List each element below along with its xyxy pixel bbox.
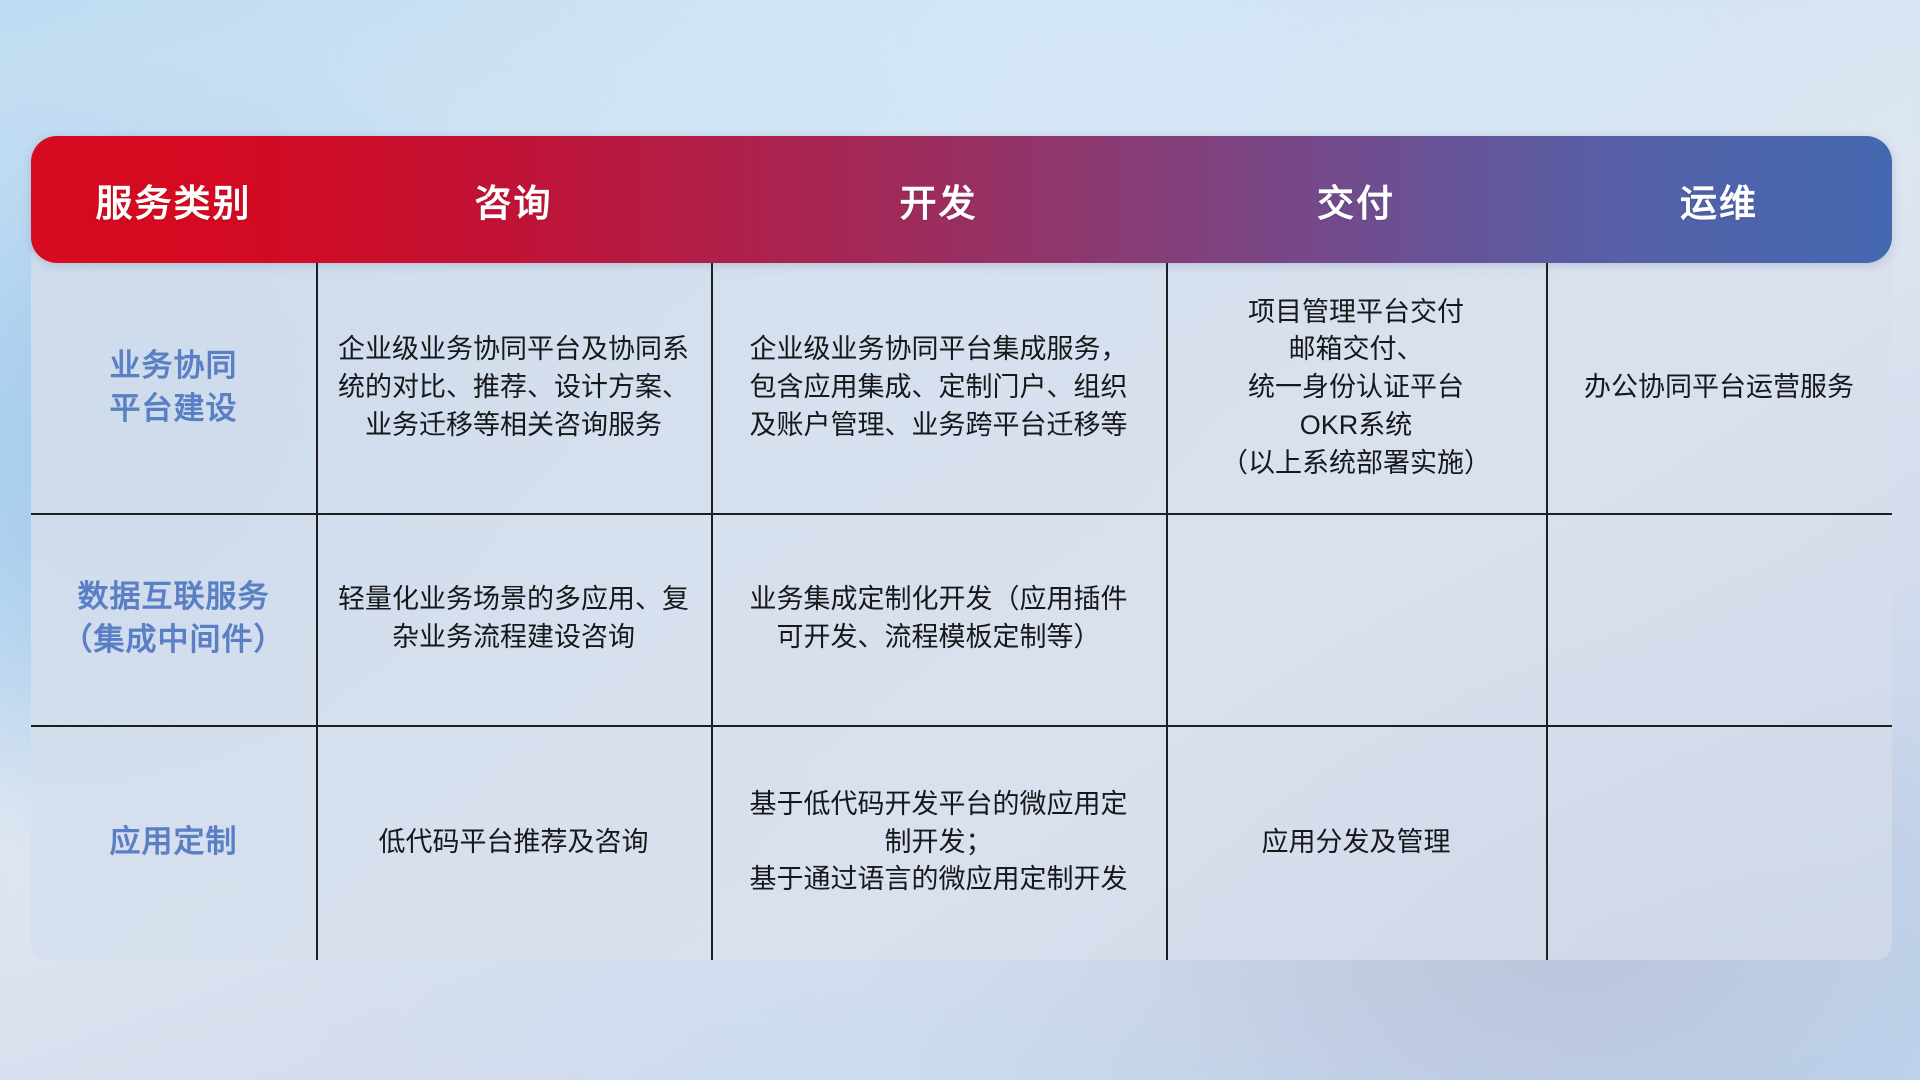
row-label-cell: 业务协同 平台建设 (31, 263, 316, 513)
column-header-consulting: 咨询 (316, 136, 711, 263)
cell-consulting-text: 企业级业务协同平台及协同系 统的对比、推荐、设计方案、 业务迁移等相关咨询服务 (338, 331, 689, 444)
cell-development-text: 业务集成定制化开发（应用插件 可开发、流程模板定制等） (750, 581, 1128, 657)
row-label-text: 应用定制 (110, 821, 238, 864)
column-header-development: 开发 (711, 136, 1166, 263)
cell-delivery-text: 应用分发及管理 (1262, 824, 1451, 862)
cell-development: 基于低代码开发平台的微应用定 制开发； 基于通过语言的微应用定制开发 (711, 725, 1166, 960)
cell-operations (1546, 725, 1892, 960)
cell-operations (1546, 513, 1892, 725)
table-row: 业务协同 平台建设 企业级业务协同平台及协同系 统的对比、推荐、设计方案、 业务… (31, 263, 1892, 513)
cell-development-text: 企业级业务协同平台集成服务， 包含应用集成、定制门户、组织 及账户管理、业务跨平… (750, 331, 1128, 444)
column-header-category: 服务类别 (31, 136, 316, 263)
cell-consulting: 企业级业务协同平台及协同系 统的对比、推荐、设计方案、 业务迁移等相关咨询服务 (316, 263, 711, 513)
cell-delivery: 应用分发及管理 (1166, 725, 1546, 960)
service-matrix-table: 服务类别 咨询 开发 交付 运维 业务协同 平台建设 企业级业务协同平台及协同系… (31, 136, 1892, 960)
cell-development: 业务集成定制化开发（应用插件 可开发、流程模板定制等） (711, 513, 1166, 725)
row-label-text: 业务协同 平台建设 (110, 345, 238, 431)
row-label-text: 数据互联服务 （集成中间件） (62, 576, 286, 662)
row-label-cell: 应用定制 (31, 725, 316, 960)
column-header-operations: 运维 (1546, 136, 1892, 263)
cell-operations-text: 办公协同平台运营服务 (1584, 369, 1854, 407)
column-header-delivery-label: 交付 (1317, 173, 1395, 227)
column-header-category-label: 服务类别 (96, 173, 252, 227)
cell-delivery: 项目管理平台交付 邮箱交付、 统一身份认证平台 OKR系统 （以上系统部署实施） (1166, 263, 1546, 513)
cell-delivery-text: 项目管理平台交付 邮箱交付、 统一身份认证平台 OKR系统 （以上系统部署实施） (1221, 294, 1491, 483)
cell-consulting-text: 轻量化业务场景的多应用、复 杂业务流程建设咨询 (338, 581, 689, 657)
column-header-operations-label: 运维 (1680, 173, 1758, 227)
cell-consulting-text: 低代码平台推荐及咨询 (379, 824, 649, 862)
cell-consulting: 轻量化业务场景的多应用、复 杂业务流程建设咨询 (316, 513, 711, 725)
column-header-delivery: 交付 (1166, 136, 1546, 263)
cell-operations: 办公协同平台运营服务 (1546, 263, 1892, 513)
cell-consulting: 低代码平台推荐及咨询 (316, 725, 711, 960)
row-label-cell: 数据互联服务 （集成中间件） (31, 513, 316, 725)
column-header-consulting-label: 咨询 (475, 173, 553, 227)
cell-development: 企业级业务协同平台集成服务， 包含应用集成、定制门户、组织 及账户管理、业务跨平… (711, 263, 1166, 513)
table-row: 数据互联服务 （集成中间件） 轻量化业务场景的多应用、复 杂业务流程建设咨询 业… (31, 513, 1892, 725)
table-header-row: 服务类别 咨询 开发 交付 运维 (31, 136, 1892, 263)
table-rows: 业务协同 平台建设 企业级业务协同平台及协同系 统的对比、推荐、设计方案、 业务… (31, 263, 1892, 960)
cell-development-text: 基于低代码开发平台的微应用定 制开发； 基于通过语言的微应用定制开发 (750, 786, 1128, 899)
column-header-development-label: 开发 (900, 173, 978, 227)
cell-delivery (1166, 513, 1546, 725)
table-row: 应用定制 低代码平台推荐及咨询 基于低代码开发平台的微应用定 制开发； 基于通过… (31, 725, 1892, 960)
